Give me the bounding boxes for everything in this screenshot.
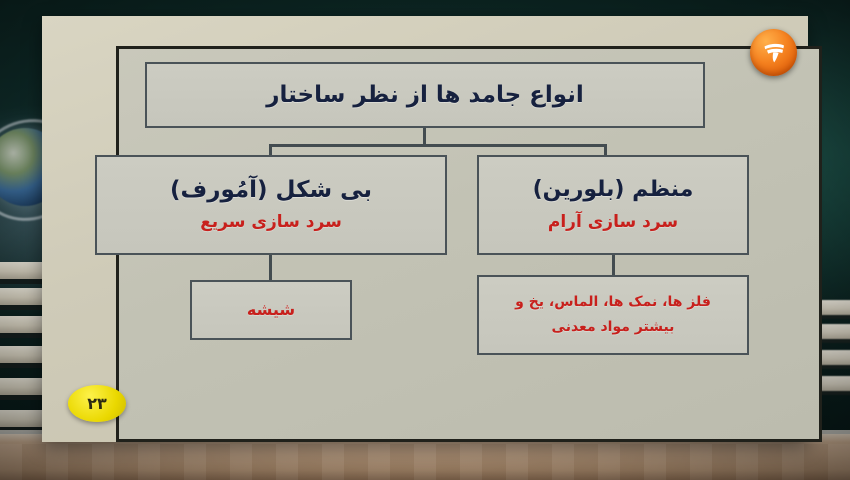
node-amorphous-heading: بی شکل (آمُورف) — [170, 176, 372, 205]
node-crystalline-subtitle: سرد سازی آرام — [548, 211, 678, 234]
node-glass-text: شیشه — [247, 299, 295, 321]
channel-logo-icon — [750, 29, 797, 76]
node-examples-line-2: بیشتر مواد معدنی — [552, 318, 675, 337]
node-glass-example[interactable]: شیشه — [190, 280, 352, 340]
node-crystalline[interactable]: منظم (بلورین) سرد سازی آرام — [477, 155, 749, 255]
page-number-text: ۲۳ — [87, 394, 107, 413]
node-examples-line-1: فلز ها، نمک ها، الماس، یخ و — [515, 293, 711, 312]
node-solid-types-title[interactable]: انواع جامد ها از نظر ساختار — [145, 62, 705, 128]
node-crystalline-examples[interactable]: فلز ها، نمک ها، الماس، یخ و بیشتر مواد م… — [477, 275, 749, 355]
node-crystalline-heading: منظم (بلورین) — [533, 176, 694, 204]
page-number-badge: ۲۳ — [68, 385, 126, 422]
node-amorphous-subtitle: سرد سازی سریع — [200, 211, 342, 234]
node-amorphous[interactable]: بی شکل (آمُورف) سرد سازی سریع — [95, 155, 447, 255]
node-title-text: انواع جامد ها از نظر ساختار — [266, 81, 583, 110]
